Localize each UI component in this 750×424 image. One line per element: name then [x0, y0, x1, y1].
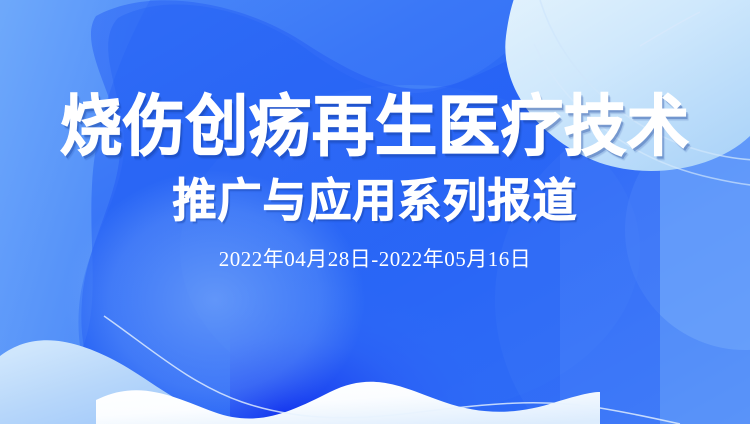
page-title: 烧伤创疡再生医疗技术 [60, 95, 690, 161]
promo-banner: 烧伤创疡再生医疗技术 推广与应用系列报道 2022年04月28日-2022年05… [0, 0, 750, 424]
banner-content: 烧伤创疡再生医疗技术 推广与应用系列报道 2022年04月28日-2022年05… [0, 0, 750, 424]
page-subtitle: 推广与应用系列报道 [173, 179, 578, 225]
date-range-label: 2022年04月28日-2022年05月16日 [219, 249, 532, 270]
